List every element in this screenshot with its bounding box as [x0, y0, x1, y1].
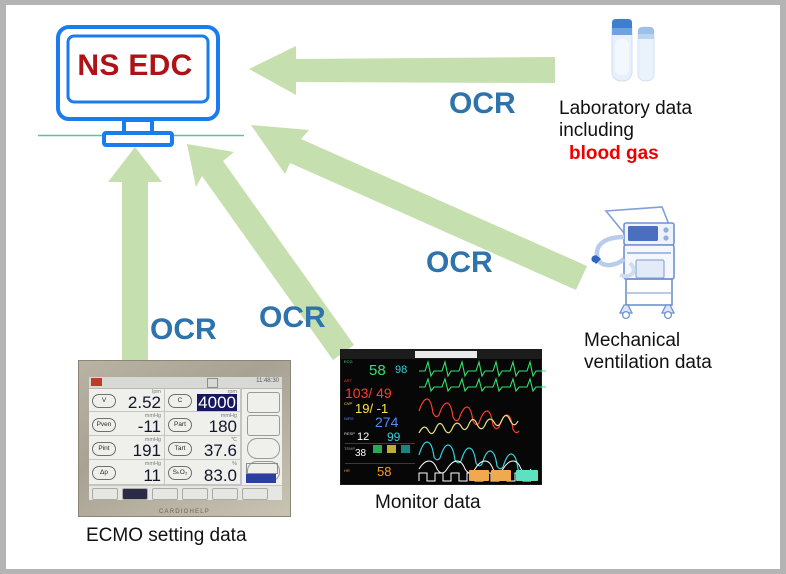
- monitor-caption: Monitor data: [375, 492, 481, 514]
- ecmo-reading-6-value: 11: [143, 467, 161, 484]
- monitor-num-2-value: 103/ 49: [345, 386, 392, 400]
- ocr-label-ventilation: OCR: [426, 248, 493, 278]
- diagram-stage: NS EDC OCR OCR OCR OCR Laboratory data i…: [6, 5, 780, 569]
- ecmo-caption: ECMO setting data: [86, 525, 247, 547]
- monitor-num-1-value: 98: [395, 365, 407, 376]
- laboratory-caption: Laboratory data including blood gas: [559, 98, 692, 165]
- monitor-chip-1: [373, 445, 382, 453]
- ecmo-grid-button[interactable]: [247, 415, 280, 436]
- ecmo-reading-1-value: 4000: [197, 394, 237, 411]
- monitor-topbar: [341, 350, 541, 359]
- ecmo-reading-0-key: V: [92, 394, 116, 408]
- monitor-softkey-3[interactable]: [516, 470, 538, 481]
- ecmo-reading-3-value: 180: [209, 418, 237, 435]
- monitor-divider-1: [345, 443, 415, 444]
- ecmo-settings-button[interactable]: [247, 438, 280, 459]
- ecmo-reading-2-value: -11: [138, 418, 161, 435]
- ecmo-reading-4: Pint mmHg 191: [89, 436, 165, 460]
- ecmo-reading-7: SₖO₂ % 83.0: [165, 460, 241, 485]
- ecmo-screen-icon: [207, 378, 218, 388]
- ecmo-reading-5: Tart ℃ 37.6: [165, 436, 241, 460]
- patient-monitor-photo[interactable]: ECG 58 98 ART 103/ 49 CVP 19/ -1 NIRS 27…: [340, 349, 542, 485]
- ecmo-battery-icon: [246, 463, 278, 474]
- monitor-num-8-value: 58: [377, 465, 391, 478]
- ecmo-readings-grid: V lpm 2.52 C rpm 4000 Pven mmHg -11 Part: [89, 388, 241, 485]
- diagram-canvas: NS EDC OCR OCR OCR OCR Laboratory data i…: [0, 0, 786, 574]
- ecmo-alarm-icon: [91, 378, 102, 386]
- ecmo-battery-level: [246, 474, 276, 483]
- ocr-label-ecmo: OCR: [150, 315, 217, 345]
- ecmo-tab-home[interactable]: [92, 488, 118, 500]
- ventilation-caption-line2: ventilation data: [584, 352, 712, 374]
- ocr-label-laboratory: OCR: [449, 89, 516, 119]
- ocr-label-monitor: OCR: [259, 303, 326, 333]
- ecmo-brand-label: CARDIOHELP: [79, 509, 290, 515]
- ecmo-caption-line1: ECMO setting data: [86, 525, 247, 547]
- monitor-softkey-2[interactable]: [491, 470, 511, 481]
- ecmo-reading-6: Δp mmHg 11: [89, 460, 165, 485]
- ns-edc-system[interactable]: NS EDC: [52, 23, 242, 143]
- ecmo-tab-timer[interactable]: [242, 488, 268, 500]
- monitor-num-0-label: ECG: [344, 360, 353, 364]
- ecmo-tab-readings[interactable]: [122, 488, 148, 500]
- ecmo-reading-1-key: C: [168, 394, 192, 408]
- monitor-num-5-label: RESP: [344, 432, 355, 436]
- laboratory-caption-highlight: blood gas: [559, 143, 692, 165]
- monitor-num-8-label: HR: [344, 469, 350, 473]
- ns-edc-label: NS EDC: [52, 49, 218, 83]
- ecmo-home-button[interactable]: [247, 392, 280, 413]
- monitor-divider-2: [345, 463, 415, 464]
- monitor-num-5-value: 12: [357, 432, 369, 443]
- mechanical-ventilator-icon: [584, 203, 694, 323]
- ecmo-reading-2: Pven mmHg -11: [89, 412, 165, 436]
- ecmo-reading-7-key: SₖO₂: [168, 466, 192, 480]
- ecmo-reading-0: V lpm 2.52: [89, 388, 165, 412]
- ecmo-reading-2-key: Pven: [92, 418, 116, 432]
- ecmo-reading-7-value: 83.0: [204, 467, 237, 484]
- ecmo-tab-pump[interactable]: [182, 488, 208, 500]
- ecmo-reading-6-key: Δp: [92, 466, 116, 480]
- ecmo-reading-1: C rpm 4000: [165, 388, 241, 412]
- monitor-num-7-value: 38: [355, 449, 366, 459]
- test-tubes-icon: [604, 13, 666, 91]
- laboratory-caption-line2: including: [559, 120, 692, 142]
- desktop-monitor-icon: [52, 23, 242, 143]
- monitor-num-2-label: ART: [344, 379, 352, 383]
- ecmo-screen: 11:48:30 V lpm 2.52 C rpm 4000 Pven mmHg: [89, 377, 282, 499]
- ecmo-reading-4-key: Pint: [92, 442, 116, 456]
- ecmo-clock: 11:48:30: [256, 378, 279, 384]
- monitor-caption-line1: Monitor data: [375, 492, 481, 514]
- ecmo-console-photo[interactable]: 11:48:30 V lpm 2.52 C rpm 4000 Pven mmHg: [78, 360, 291, 517]
- ecmo-reading-5-key: Tart: [168, 442, 192, 456]
- monitor-num-4-value: 274: [375, 415, 398, 429]
- ecmo-tab-circuit[interactable]: [212, 488, 238, 500]
- monitor-topbar-field: [415, 351, 477, 358]
- ecmo-tab-temp[interactable]: [152, 488, 178, 500]
- ecmo-bottom-toolbar: [89, 485, 282, 500]
- ecmo-reading-3-key: Part: [168, 418, 192, 432]
- monitor-chip-2: [387, 445, 396, 453]
- ventilation-caption: Mechanical ventilation data: [584, 330, 712, 375]
- monitor-num-6-value: 99: [387, 431, 400, 443]
- monitor-waveforms: [419, 359, 541, 485]
- monitor-chip-3: [401, 445, 410, 453]
- monitor-num-7-label: TEMP: [344, 447, 355, 451]
- ecmo-reading-5-value: 37.6: [204, 442, 237, 459]
- monitor-num-0-value: 58: [369, 363, 386, 378]
- ecmo-reading-0-value: 2.52: [128, 394, 161, 411]
- ecmo-reading-3: Part mmHg 180: [165, 412, 241, 436]
- monitor-num-3-label: CVP: [344, 402, 352, 406]
- monitor-numeric-panel: ECG 58 98 ART 103/ 49 CVP 19/ -1 NIRS 27…: [343, 359, 417, 485]
- ventilation-caption-line1: Mechanical: [584, 330, 712, 352]
- arrow-ventilation-to-edc: [251, 125, 587, 290]
- ecmo-reading-4-value: 191: [133, 442, 161, 459]
- monitor-softkey-1[interactable]: [469, 470, 489, 481]
- laboratory-caption-line1: Laboratory data: [559, 98, 692, 120]
- monitor-num-4-label: NIRS: [344, 417, 354, 421]
